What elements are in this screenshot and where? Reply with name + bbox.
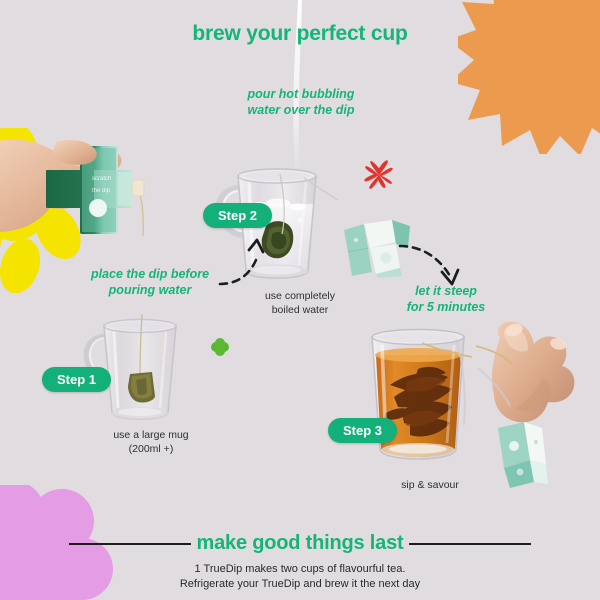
- step1-dark-caption: use a large mug (200ml +): [88, 428, 214, 456]
- step1-green-caption-line2: pouring water: [62, 282, 238, 298]
- step2-green-caption-line1: pour hot bubbling: [228, 86, 374, 102]
- poster-canvas: scratch the dip: [0, 0, 600, 600]
- step3-green-caption-line2: for 5 minutes: [382, 299, 510, 315]
- step2-dark-caption-line2: boiled water: [240, 303, 360, 317]
- step-badge-3: Step 3: [328, 418, 397, 443]
- step2-dark-caption: use completely boiled water: [240, 289, 360, 317]
- step1-green-caption: place the dip before pouring water: [62, 266, 238, 298]
- footer: make good things last 1 TrueDip makes tw…: [0, 532, 600, 592]
- mug-brewed-tea-photo: [352, 325, 488, 465]
- step1-dark-caption-line1: use a large mug: [88, 428, 214, 442]
- step3-green-caption: let it steep for 5 minutes: [382, 283, 510, 315]
- green-clover-icon: [210, 337, 230, 357]
- footer-title: make good things last: [191, 532, 410, 555]
- step3-dark-caption: sip & savour: [372, 478, 488, 492]
- footer-subtitle-line1: 1 TrueDip makes two cups of flavourful t…: [0, 562, 600, 577]
- svg-text:scratch: scratch: [92, 176, 111, 182]
- hand-holding-dip-photo: scratch the dip: [0, 136, 194, 266]
- step3-dark-caption-line1: sip & savour: [372, 478, 488, 492]
- red-asterisk-icon: [362, 158, 396, 192]
- step2-dark-caption-line1: use completely: [240, 289, 360, 303]
- step1-green-caption-line1: place the dip before: [62, 266, 238, 282]
- step2-green-caption-line2: water over the dip: [228, 102, 374, 118]
- svg-text:the dip: the dip: [92, 188, 111, 194]
- footer-rule-left: [69, 543, 191, 545]
- footer-subtitle-line2: Refrigerate your TrueDip and brew it the…: [0, 577, 600, 592]
- step1-dark-caption-line2: (200ml +): [88, 442, 214, 456]
- footer-heading-row: make good things last: [0, 532, 600, 555]
- step3-green-caption-line1: let it steep: [382, 283, 510, 299]
- step-badge-1: Step 1: [42, 367, 111, 392]
- footer-rule-right: [409, 543, 531, 545]
- hand-pulling-string-photo: [476, 320, 600, 490]
- page-title: brew your perfect cup: [0, 22, 600, 46]
- step-badge-2: Step 2: [203, 203, 272, 228]
- step2-green-caption: pour hot bubbling water over the dip: [228, 86, 374, 118]
